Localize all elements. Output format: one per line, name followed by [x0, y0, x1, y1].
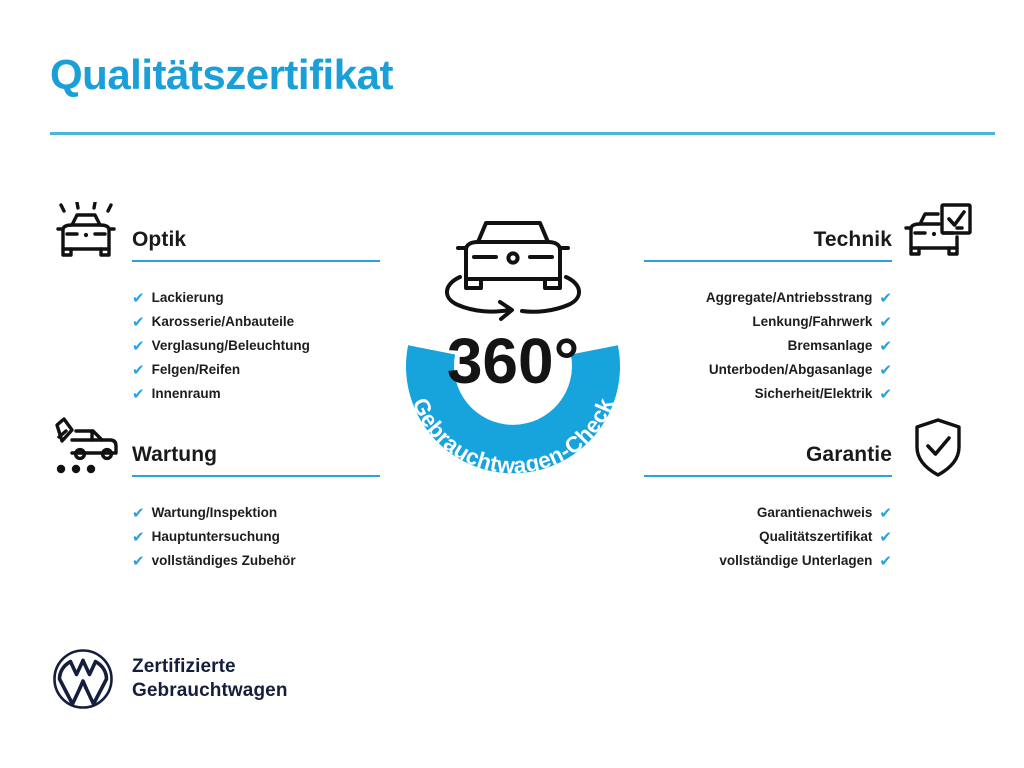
- footer-brand: Zertifizierte Gebrauchtwagen: [52, 648, 288, 710]
- footer-brand-text: Zertifizierte Gebrauchtwagen: [132, 655, 288, 703]
- section-underline: [132, 260, 380, 262]
- header-divider: [50, 132, 995, 135]
- item-label: Karosserie/Anbauteile: [152, 315, 295, 329]
- check-icon: ✔: [132, 363, 145, 378]
- check-icon: ✔: [879, 291, 892, 306]
- footer-line-1: Zertifizierte: [132, 655, 288, 679]
- check-icon: ✔: [132, 315, 145, 330]
- list-item: ✔ Hauptuntersuchung: [50, 525, 380, 549]
- section-title: Wartung: [132, 443, 217, 467]
- section-header-technik: Technik: [644, 200, 974, 272]
- list-item: Qualitätszertifikat ✔: [644, 525, 974, 549]
- item-label: vollständiges Zubehör: [152, 554, 296, 568]
- list-item: Unterboden/Abgasanlage ✔: [644, 358, 974, 382]
- item-label: vollständige Unterlagen: [719, 554, 872, 568]
- section-underline: [644, 475, 892, 477]
- checklist-optik: ✔ Lackierung ✔ Karosserie/Anbauteile ✔ V…: [50, 272, 380, 406]
- list-item: ✔ Felgen/Reifen: [50, 358, 380, 382]
- footer-line-2: Gebrauchtwagen: [132, 679, 288, 703]
- car-front-rotate-icon: [447, 223, 579, 319]
- section-garantie: Garantie Garantienachweis ✔ Qualitätszer…: [644, 415, 974, 573]
- item-label: Aggregate/Antriebsstrang: [706, 291, 873, 305]
- item-label: Sicherheit/Elektrik: [755, 387, 873, 401]
- item-label: Felgen/Reifen: [152, 363, 241, 377]
- check-icon: ✔: [132, 291, 145, 306]
- item-label: Hauptuntersuchung: [152, 530, 280, 544]
- check-icon: ✔: [132, 387, 145, 402]
- check-icon: ✔: [879, 363, 892, 378]
- list-item: Bremsanlage ✔: [644, 334, 974, 358]
- list-item: ✔ Wartung/Inspektion: [50, 501, 380, 525]
- item-label: Verglasung/Beleuchtung: [152, 339, 310, 353]
- list-item: Lenkung/Fahrwerk ✔: [644, 310, 974, 334]
- checklist-wartung: ✔ Wartung/Inspektion ✔ Hauptuntersuchung…: [50, 487, 380, 573]
- check-icon: ✔: [879, 339, 892, 354]
- item-label: Bremsanlage: [788, 339, 873, 353]
- vw-logo-icon: [52, 648, 114, 710]
- gebrauchtwagen-check-badge: 360° Gebrauchtwagen-Check: [382, 198, 644, 494]
- page-title: Qualitätszertifikat: [50, 52, 393, 98]
- list-item: Sicherheit/Elektrik ✔: [644, 382, 974, 406]
- check-icon: ✔: [879, 530, 892, 545]
- section-optik: Optik ✔ Lackierung ✔ Karosserie/Anbautei…: [50, 200, 380, 406]
- section-title: Technik: [814, 228, 893, 252]
- item-label: Qualitätszertifikat: [759, 530, 872, 544]
- check-icon: ✔: [879, 315, 892, 330]
- shield-check-icon: [902, 417, 974, 479]
- section-header-wartung: Wartung: [50, 415, 380, 487]
- list-item: ✔ Verglasung/Beleuchtung: [50, 334, 380, 358]
- check-icon: ✔: [132, 506, 145, 521]
- item-label: Innenraum: [152, 387, 221, 401]
- badge-center-text: 360°: [447, 325, 579, 397]
- list-item: Aggregate/Antriebsstrang ✔: [644, 286, 974, 310]
- pen-car-service-icon: [50, 417, 122, 479]
- section-technik: Technik Aggregate/Antriebsstrang ✔ Lenku…: [644, 200, 974, 406]
- item-label: Lackierung: [152, 291, 224, 305]
- list-item: ✔ Lackierung: [50, 286, 380, 310]
- check-icon: ✔: [132, 530, 145, 545]
- checklist-garantie: Garantienachweis ✔ Qualitätszertifikat ✔…: [644, 487, 974, 573]
- car-front-shine-icon: [50, 202, 122, 264]
- section-header-garantie: Garantie: [644, 415, 974, 487]
- check-icon: ✔: [132, 339, 145, 354]
- section-header-optik: Optik: [50, 200, 380, 272]
- list-item: ✔ Karosserie/Anbauteile: [50, 310, 380, 334]
- section-underline: [644, 260, 892, 262]
- section-underline: [132, 475, 380, 477]
- list-item: Garantienachweis ✔: [644, 501, 974, 525]
- check-icon: ✔: [879, 387, 892, 402]
- check-icon: ✔: [879, 554, 892, 569]
- section-title: Garantie: [806, 443, 892, 467]
- item-label: Garantienachweis: [757, 506, 873, 520]
- section-title: Optik: [132, 228, 186, 252]
- item-label: Wartung/Inspektion: [152, 506, 278, 520]
- list-item: ✔ Innenraum: [50, 382, 380, 406]
- car-front-checkbox-icon: [902, 202, 974, 264]
- list-item: ✔ vollständiges Zubehör: [50, 549, 380, 573]
- list-item: vollständige Unterlagen ✔: [644, 549, 974, 573]
- checklist-technik: Aggregate/Antriebsstrang ✔ Lenkung/Fahrw…: [644, 272, 974, 406]
- check-icon: ✔: [132, 554, 145, 569]
- item-label: Unterboden/Abgasanlage: [709, 363, 873, 377]
- item-label: Lenkung/Fahrwerk: [752, 315, 872, 329]
- section-wartung: Wartung ✔ Wartung/Inspektion ✔ Hauptunte…: [50, 415, 380, 573]
- certificate-page: Qualitätszertifikat Optik ✔: [0, 0, 1024, 768]
- check-icon: ✔: [879, 506, 892, 521]
